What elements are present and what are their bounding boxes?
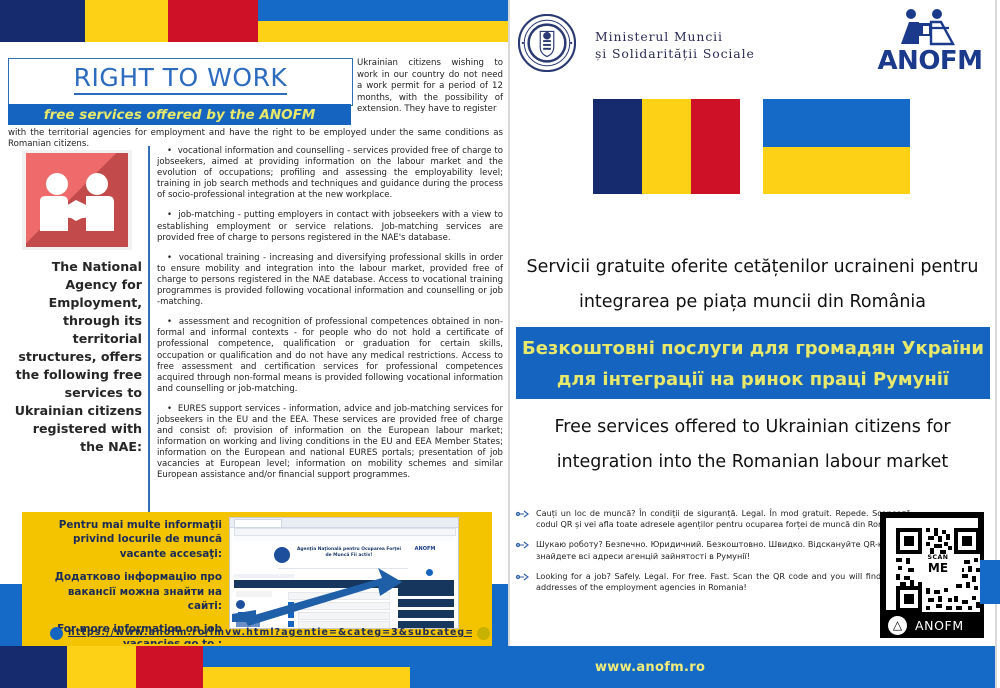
bullet-dot-right bbox=[477, 627, 490, 640]
romania-flag-red-stripe bbox=[168, 0, 258, 42]
ministry-name: Ministerul Muncii și Solidarității Socia… bbox=[595, 28, 845, 62]
qr-card-label-text: ANOFM bbox=[915, 618, 964, 633]
headline-ukrainian-box: Безкоштовні послуги для громадян України… bbox=[516, 327, 990, 399]
romania-flag-blue-stripe bbox=[0, 646, 67, 688]
page-title: RIGHT TO WORK bbox=[9, 63, 352, 92]
qr-note-ro: Cauți un loc de muncă? În condiții de si… bbox=[536, 508, 911, 529]
url-row: https://www.anofm.ro/lmvw.html?agentie=&… bbox=[22, 626, 492, 642]
ukraine-flag-blue-stripe bbox=[258, 0, 522, 21]
pointing-hand-icon bbox=[516, 572, 531, 582]
romania-flag-yellow bbox=[642, 99, 691, 194]
anofm-logo: ANOFM bbox=[875, 8, 985, 72]
qr-code-card[interactable]: SCAN ME △ ANOFM bbox=[880, 512, 984, 638]
ukraine-flag-blue bbox=[763, 99, 910, 147]
pointer-arrow-icon bbox=[230, 518, 458, 628]
ukraine-flag-yellow bbox=[763, 147, 910, 195]
list-item: vocational information and counselling -… bbox=[157, 146, 503, 201]
romania-flag-yellow-stripe bbox=[67, 646, 136, 688]
headline-romanian: Servicii gratuite oferite cetățenilor uc… bbox=[510, 250, 995, 320]
left-panel-right-blue-bar bbox=[492, 584, 508, 648]
bottom-flag-band: www.anofm.ro bbox=[0, 646, 1000, 688]
handshake-icon bbox=[26, 153, 128, 247]
job-vacancies-promo-block: Pentru mai multe informaţii privind locu… bbox=[22, 512, 492, 644]
handshake-icon-card bbox=[22, 150, 132, 250]
vertical-blue-rule bbox=[148, 146, 150, 544]
adobe-pdf-icon: △ bbox=[888, 616, 907, 635]
top-flag-band bbox=[0, 0, 522, 42]
anofm-figures-icon bbox=[875, 8, 985, 48]
bullet-dot-left bbox=[50, 627, 63, 640]
headline-english: Free services offered to Ukrainian citiz… bbox=[510, 410, 995, 480]
brochure-page: RIGHT TO WORK free services offered by t… bbox=[0, 0, 1000, 688]
list-item: Шукаю роботу? Безпечно. Юридичний. Безко… bbox=[510, 539, 911, 561]
promo-line-uk: Додатково інформацію про вакансії можна … bbox=[44, 570, 222, 613]
romania-flag-red bbox=[691, 99, 740, 194]
scan-me-label: SCAN ME bbox=[914, 554, 962, 580]
pointing-hand-icon bbox=[516, 509, 531, 519]
ministry-line-2: și Solidarității Sociale bbox=[595, 45, 845, 62]
agency-description-text: The National Agency for Employment, thro… bbox=[14, 258, 142, 456]
list-item: EURES support services - information, ad… bbox=[157, 404, 503, 482]
subtitle-bar: free services offered by the ANOFM bbox=[8, 104, 351, 125]
left-panel: RIGHT TO WORK free services offered by t… bbox=[0, 42, 508, 688]
pointing-hand-icon bbox=[516, 540, 531, 550]
romania-flag-yellow-stripe bbox=[85, 0, 168, 42]
romania-flag-blue bbox=[593, 99, 642, 194]
right-to-work-title-box: RIGHT TO WORK bbox=[8, 58, 353, 106]
anofm-logo-text: ANOFM bbox=[875, 46, 985, 76]
services-bullet-list: vocational information and counselling -… bbox=[157, 146, 503, 491]
qr-note-en: Looking for a job? Safely. Legal. For fr… bbox=[536, 571, 911, 592]
list-item: assessment and recognition of profession… bbox=[157, 317, 503, 395]
right-panel: Ministerul Muncii și Solidarității Socia… bbox=[510, 0, 995, 646]
ukraine-flag-yellow-stripe bbox=[258, 21, 522, 42]
qr-instructions-block: Cauți un loc de muncă? În condiții de si… bbox=[510, 508, 995, 602]
ukraine-flag-yellow-stripe bbox=[203, 667, 410, 688]
qr-card-label: △ ANOFM bbox=[880, 612, 984, 638]
romania-flag-blue-stripe bbox=[0, 0, 85, 42]
qr-code-background: SCAN ME bbox=[886, 518, 978, 610]
romania-flag-red-stripe bbox=[136, 646, 203, 688]
qr-note-uk: Шукаю роботу? Безпечно. Юридичний. Безко… bbox=[536, 539, 911, 560]
list-item: vocational training - increasing and div… bbox=[157, 253, 503, 308]
intro-paragraph-top: Ukrainian citizens wishing to work in ou… bbox=[357, 58, 503, 116]
scan-label-line2: ME bbox=[914, 562, 962, 575]
romania-flag bbox=[593, 99, 740, 194]
right-panel-blue-accent-bar bbox=[980, 560, 1000, 604]
subtitle-text: free services offered by the ANOFM bbox=[8, 107, 351, 123]
job-vacancies-url-link[interactable]: https://www.anofm.ro/lmvw.html?agentie=&… bbox=[68, 627, 472, 638]
website-screenshot[interactable]: Agenţia Naţională pentru Ocuparea Forţei… bbox=[229, 517, 459, 629]
government-of-romania-seal-icon bbox=[518, 14, 576, 72]
promo-line-ro: Pentru mai multe informaţii privind locu… bbox=[44, 518, 222, 561]
footer-website-text[interactable]: www.anofm.ro bbox=[410, 646, 995, 688]
ministry-line-1: Ministerul Muncii bbox=[595, 28, 845, 45]
list-item: Cauți un loc de muncă? În condiții de si… bbox=[510, 508, 911, 530]
list-item: job-matching - putting employers in cont… bbox=[157, 210, 503, 243]
headline-ukrainian: Безкоштовні послуги для громадян України… bbox=[516, 333, 990, 395]
ukraine-flag bbox=[763, 99, 910, 194]
list-item: Looking for a job? Safely. Legal. For fr… bbox=[510, 571, 911, 593]
